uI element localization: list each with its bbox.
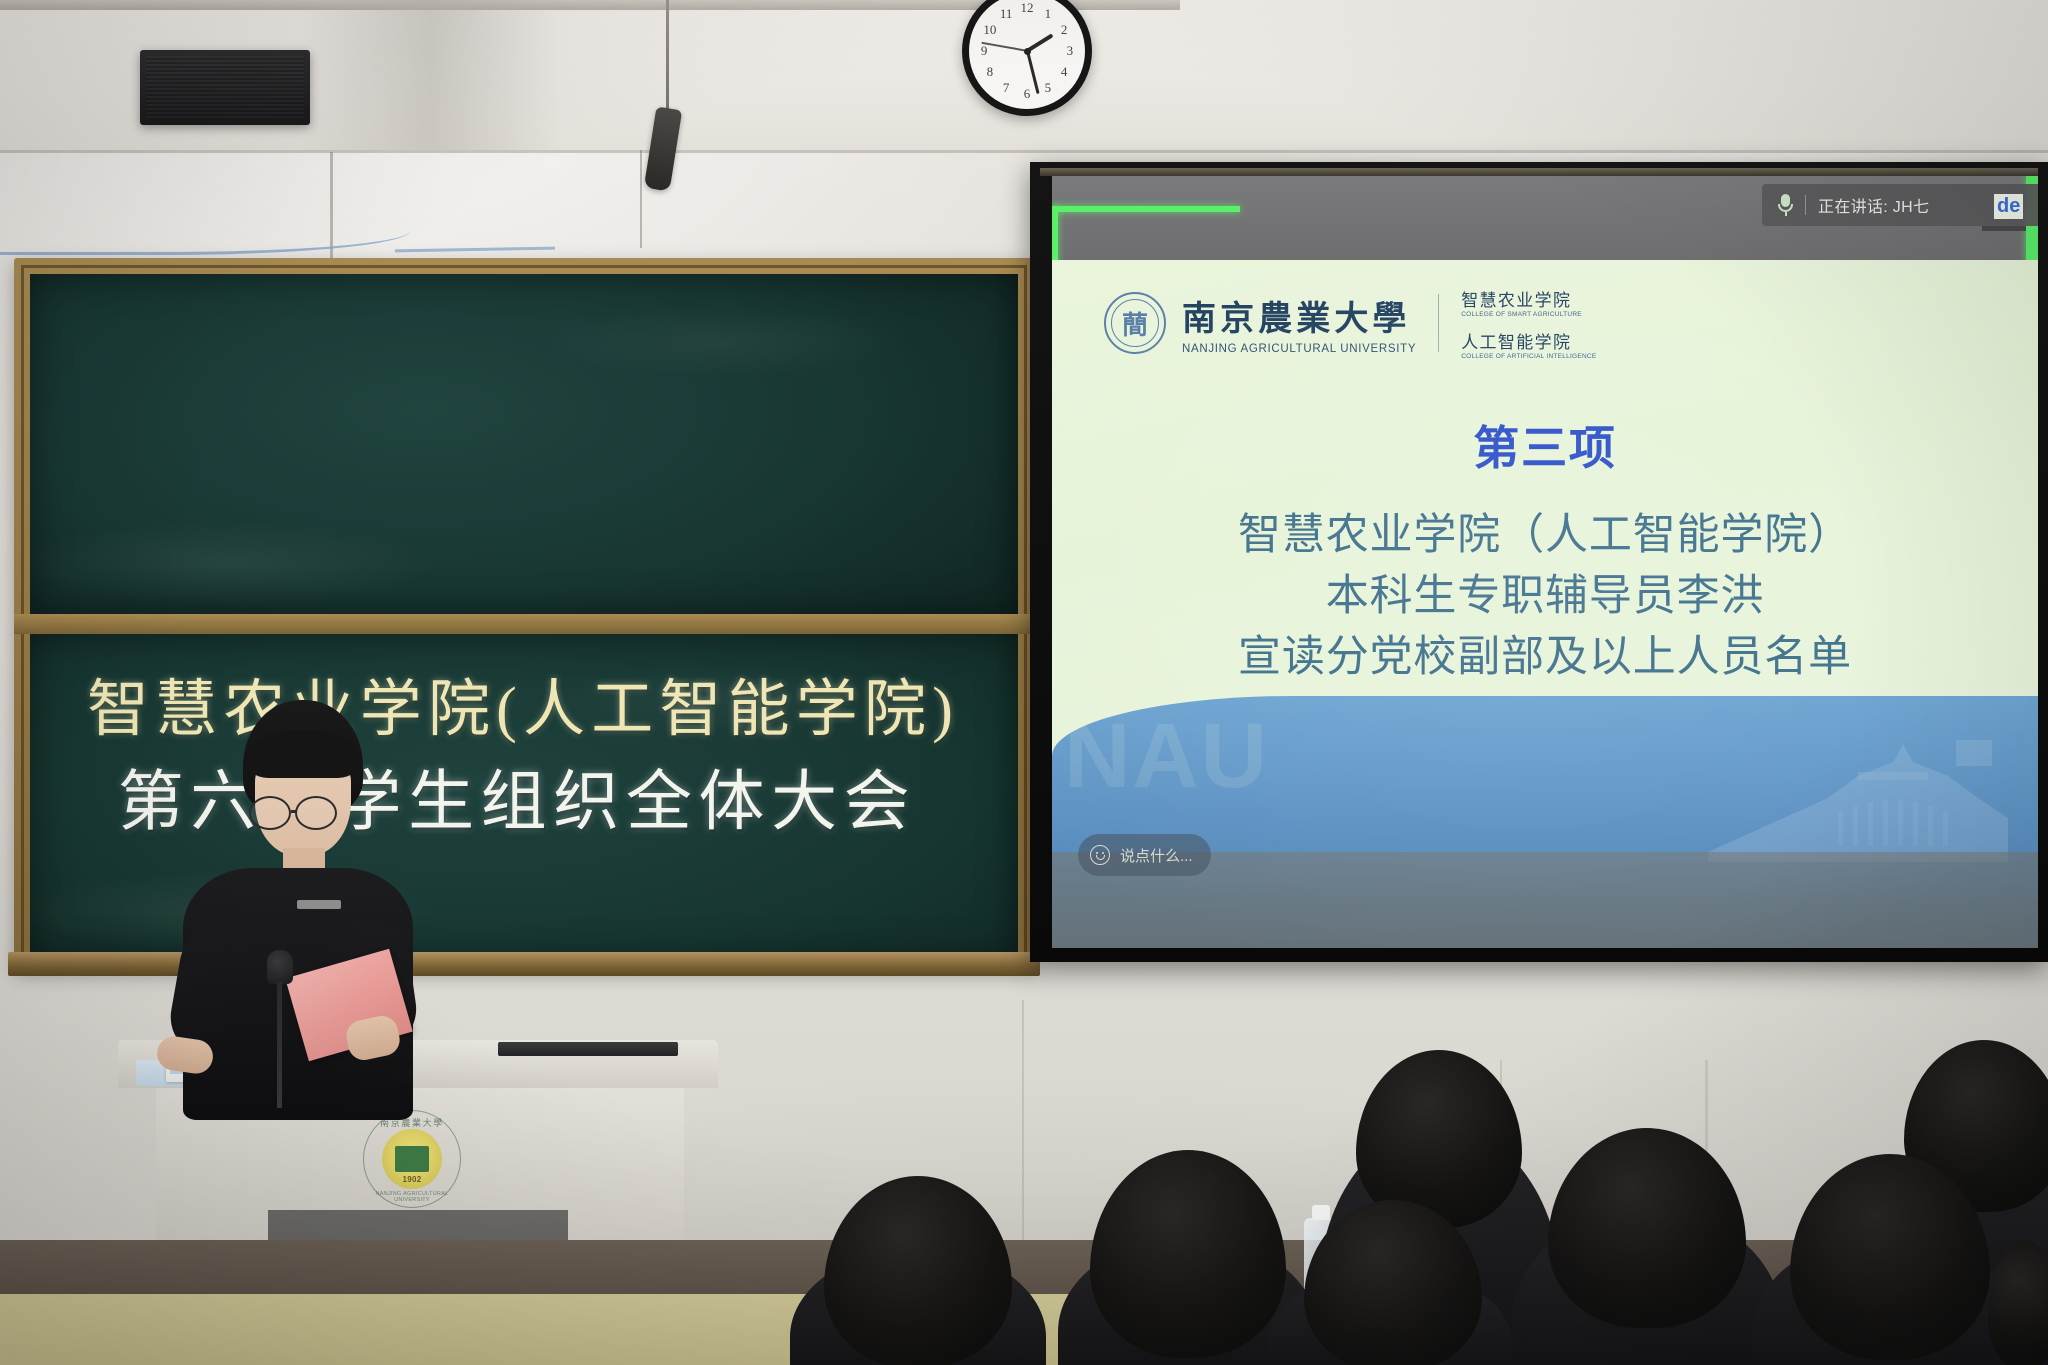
sweatshirt-logo xyxy=(297,900,341,909)
desk-microphone-icon xyxy=(267,950,293,984)
screen-top-trim xyxy=(1040,168,2038,176)
clock-numeral: 4 xyxy=(1061,64,1068,80)
microphone-icon[interactable] xyxy=(1778,194,1793,216)
blackboard-upper-panel xyxy=(30,274,1018,614)
seal-glyph: 蕳 xyxy=(1122,305,1148,342)
clock-numeral: 3 xyxy=(1067,43,1074,59)
logo-divider xyxy=(1438,294,1439,352)
presenter-at-podium xyxy=(175,700,415,1120)
eyeglasses-bridge xyxy=(291,810,297,813)
classroom-scene: 12 1 2 3 4 5 6 7 8 9 10 11 智慧农业学院(人工智能学院… xyxy=(0,0,2048,1365)
toolbar-divider xyxy=(1805,195,1806,215)
slide-body: 智慧农业学院（人工智能学院） 本科生专职辅导员李洪 宣读分党校副部及以上人员名单 xyxy=(1052,505,2038,688)
microphone-cable xyxy=(666,0,669,112)
clock-numeral: 11 xyxy=(1000,6,1013,22)
clock-numeral: 5 xyxy=(1045,80,1052,96)
clock-numeral: 6 xyxy=(1024,86,1031,102)
slide-canvas: 蕳 南京農業大學 NANJING AGRICULTURAL UNIVERSITY… xyxy=(1052,260,2038,948)
college-name-en: COLLEGE OF SMART AGRICULTURE xyxy=(1461,311,1596,318)
college-name-cn: 人工智能学院 xyxy=(1461,328,1596,353)
clock-second-hand xyxy=(982,42,1028,51)
blackboard-divider xyxy=(14,614,1034,634)
slide-footer-band: NAU 说点什么... xyxy=(1052,696,2038,948)
college-name-cn: 智慧农业学院 xyxy=(1461,286,1596,311)
crest-name-en: NANJING AGRICULTURAL UNIVERSITY xyxy=(363,1191,461,1203)
clock-numeral: 9 xyxy=(981,43,988,59)
presenter-fringe xyxy=(245,730,361,778)
blackboard-headline-2: 第六届学生组织全体大会 xyxy=(22,748,1012,844)
toolbar-right-fragment[interactable]: de xyxy=(1994,194,2023,219)
slide-title: 第三项 xyxy=(1052,412,2038,478)
ceiling-speaker xyxy=(140,50,310,125)
university-seal-icon: 蕳 xyxy=(1104,292,1166,354)
clock-numeral: 12 xyxy=(1021,0,1034,16)
nau-crest-icon: 南京農業大學 1902 NANJING AGRICULTURAL UNIVERS… xyxy=(363,1110,461,1208)
wall-clock: 12 1 2 3 4 5 6 7 8 9 10 11 xyxy=(962,0,1092,116)
slide-body-line-1: 智慧农业学院（人工智能学院） xyxy=(1052,505,2038,566)
desk-microphone-stem xyxy=(277,982,282,1108)
eyeglasses-icon xyxy=(249,796,291,830)
crest-year: 1902 xyxy=(363,1175,461,1184)
college-name-block: 智慧农业学院 COLLEGE OF SMART AGRICULTURE 人工智能… xyxy=(1461,286,1596,360)
university-name-block: 南京農業大學 NANJING AGRICULTURAL UNIVERSITY xyxy=(1182,291,1416,355)
campus-building-graphic xyxy=(1708,732,2008,862)
toolbar-right-bar xyxy=(1982,226,2026,231)
slide-body-line-2: 本科生专职辅导员李洪 xyxy=(1052,566,2038,627)
college-name-en: COLLEGE OF ARTIFICIAL INTELLIGENCE xyxy=(1461,353,1596,360)
smiley-icon[interactable] xyxy=(1090,845,1110,865)
college-entry: 智慧农业学院 COLLEGE OF SMART AGRICULTURE xyxy=(1461,286,1596,318)
slide-header-logos: 蕳 南京農業大學 NANJING AGRICULTURAL UNIVERSITY… xyxy=(1104,286,1596,360)
chat-placeholder: 说点什么... xyxy=(1120,845,1193,866)
nau-watermark: NAU xyxy=(1064,704,1269,809)
clock-center-pin xyxy=(1024,48,1031,55)
chalk-ledge xyxy=(8,952,1040,976)
eyeglasses-icon xyxy=(295,796,337,830)
clock-numeral: 8 xyxy=(987,64,994,80)
clock-numeral: 2 xyxy=(1061,22,1068,38)
chalk-dust xyxy=(30,274,1018,614)
wall-seam xyxy=(0,150,2048,153)
clock-face: 12 1 2 3 4 5 6 7 8 9 10 11 xyxy=(962,0,1092,116)
ceiling-pillar xyxy=(300,0,560,150)
clock-numeral: 10 xyxy=(983,22,996,38)
share-indicator-top-left xyxy=(1052,206,1240,212)
university-name-cn: 南京農業大學 xyxy=(1182,291,1416,340)
podium-device-bar xyxy=(498,1042,678,1056)
university-name-en: NANJING AGRICULTURAL UNIVERSITY xyxy=(1182,343,1416,355)
clock-numeral: 1 xyxy=(1045,6,1052,22)
chat-input[interactable]: 说点什么... xyxy=(1078,834,1211,876)
wall-crack xyxy=(640,150,642,248)
projection-screen[interactable]: 正在讲话: JH七 « de 蕳 南京農業大學 NANJING AGRICULT… xyxy=(1052,176,2038,948)
wall-crack xyxy=(1022,1000,1024,1250)
college-entry: 人工智能学院 COLLEGE OF ARTIFICIAL INTELLIGENC… xyxy=(1461,328,1596,360)
speaking-status-label: 正在讲话: JH七 xyxy=(1818,193,1929,217)
slide-body-line-3: 宣读分党校副部及以上人员名单 xyxy=(1052,627,2038,688)
clock-numeral: 7 xyxy=(1003,80,1010,96)
